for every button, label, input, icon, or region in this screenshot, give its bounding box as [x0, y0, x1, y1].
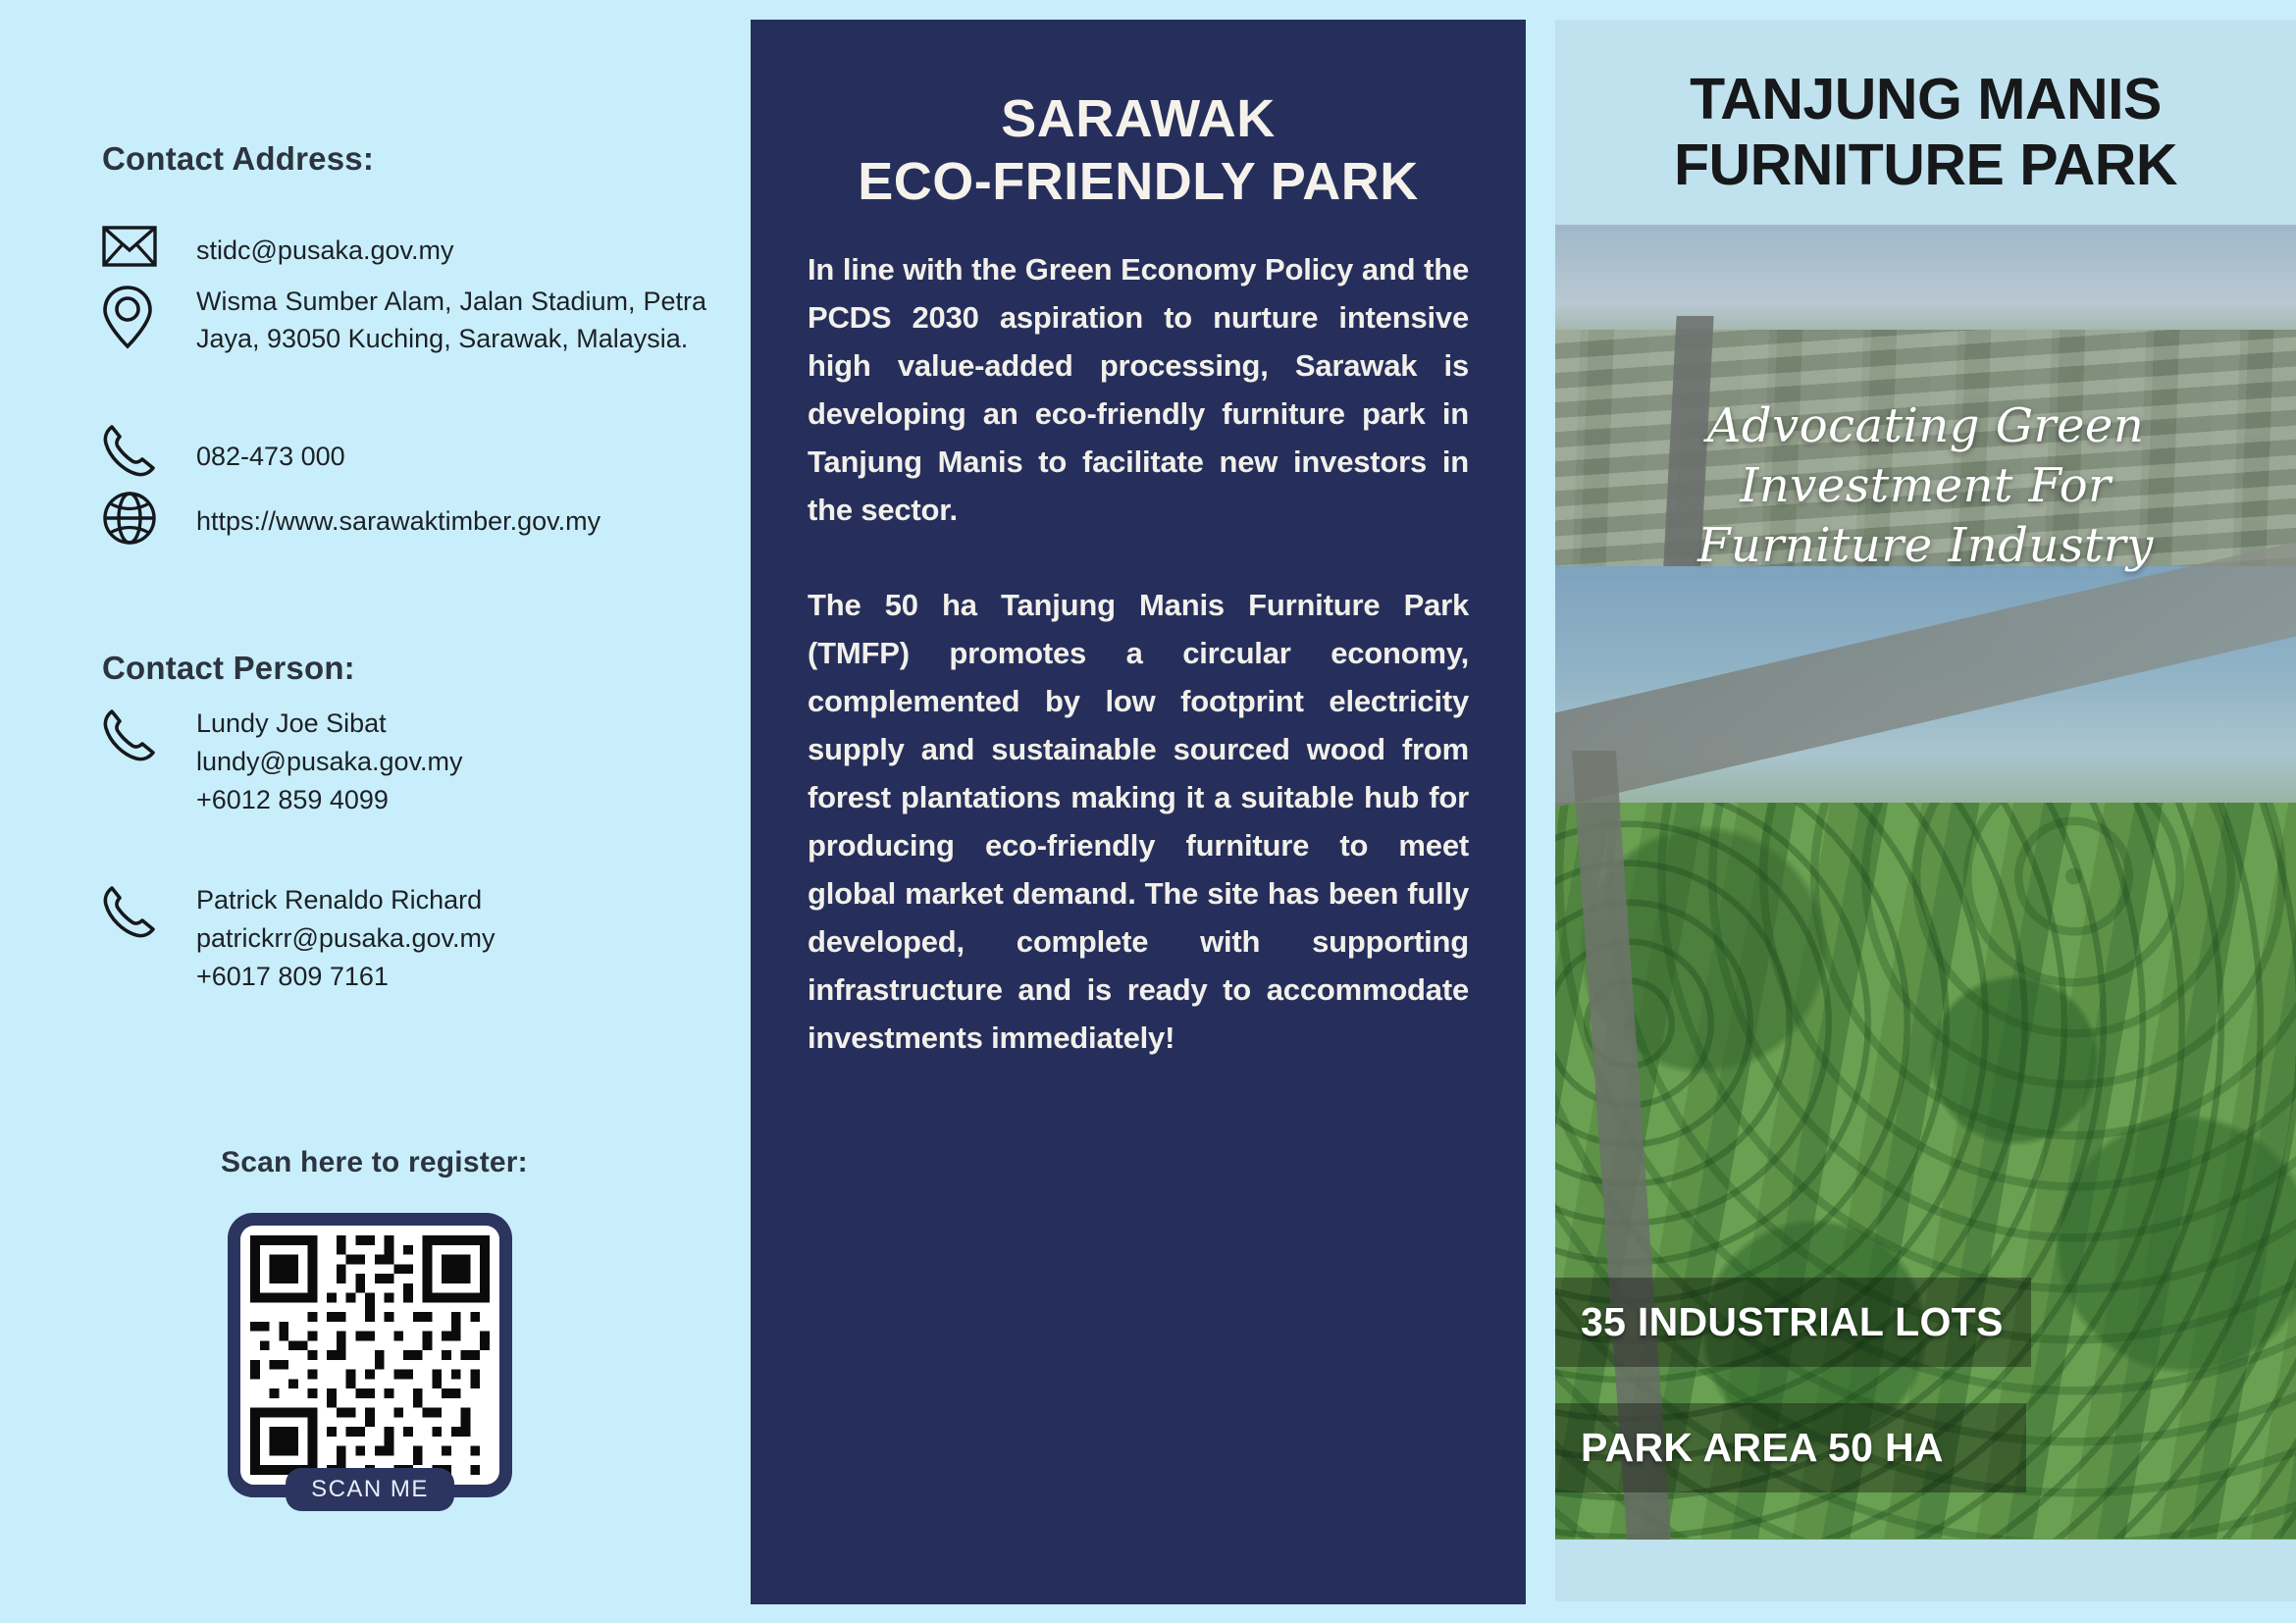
- tagline-line-2: Furniture Industry: [1587, 516, 2265, 576]
- phone-icon: [102, 881, 196, 940]
- contact-address-heading: Contact Address:: [102, 140, 374, 178]
- middle-panel-title: SARAWAK ECO-FRIENDLY PARK: [808, 88, 1469, 213]
- person-phone[interactable]: +6012 859 4099: [196, 781, 463, 819]
- description-paragraph-2: The 50 ha Tanjung Manis Furniture Park (…: [808, 582, 1469, 1063]
- scan-here-heading: Scan here to register:: [221, 1146, 528, 1179]
- badge-park-area: PARK AREA 50 HA: [1555, 1403, 2026, 1492]
- aerial-photo: Advocating Green Investment For Furnitur…: [1555, 225, 2296, 1540]
- person-email[interactable]: patrickrr@pusaka.gov.my: [196, 919, 496, 958]
- right-panel-cover: TANJUNG MANIS FURNITURE PARK Advocating …: [1555, 20, 2296, 1601]
- person-phone[interactable]: +6017 809 7161: [196, 958, 496, 996]
- person-name: Patrick Renaldo Richard: [196, 881, 496, 919]
- contact-person-2: Patrick Renaldo Richard patrickrr@pusaka…: [102, 881, 730, 996]
- middle-panel-description: SARAWAK ECO-FRIENDLY PARK In line with t…: [751, 20, 1526, 1604]
- contact-row-website: https://www.sarawaktimber.gov.my: [102, 489, 750, 546]
- brochure-page: Contact Address: stidc@pusaka.gov.my Wis…: [0, 0, 2296, 1623]
- description-paragraph-1: In line with the Green Economy Policy an…: [808, 246, 1469, 535]
- right-panel-title: TANJUNG MANIS FURNITURE PARK: [1573, 67, 2278, 199]
- contact-row-phone: 082-473 000: [102, 420, 691, 479]
- qr-code-block[interactable]: SCAN ME: [228, 1213, 512, 1497]
- qr-code-image: [240, 1226, 499, 1485]
- right-title-line-1: TANJUNG MANIS: [1690, 67, 2162, 131]
- right-title-line-2: FURNITURE PARK: [1573, 132, 2278, 198]
- left-panel-contact: Contact Address: stidc@pusaka.gov.my Wis…: [0, 0, 751, 1623]
- address-value: Wisma Sumber Alam, Jalan Stadium, Petra …: [196, 283, 706, 358]
- contact-row-address: Wisma Sumber Alam, Jalan Stadium, Petra …: [102, 283, 730, 358]
- website-value[interactable]: https://www.sarawaktimber.gov.my: [196, 489, 600, 540]
- contact-person-1: Lundy Joe Sibat lundy@pusaka.gov.my +601…: [102, 705, 730, 819]
- person-name: Lundy Joe Sibat: [196, 705, 463, 743]
- tagline-overlay: Advocating Green Investment For Furnitur…: [1555, 396, 2296, 577]
- email-value[interactable]: stidc@pusaka.gov.my: [196, 224, 454, 269]
- phone-icon: [102, 705, 196, 763]
- globe-icon: [102, 489, 196, 546]
- phone-value[interactable]: 082-473 000: [196, 420, 345, 475]
- scan-me-badge: SCAN ME: [286, 1468, 454, 1511]
- phone-icon: [102, 420, 196, 479]
- qr-code-svg: [250, 1235, 490, 1475]
- title-line-1: SARAWAK: [1001, 89, 1276, 148]
- tagline-line-1: Advocating Green Investment For: [1707, 398, 2144, 513]
- title-line-2: ECO-FRIENDLY PARK: [808, 151, 1469, 214]
- right-panel-header: TANJUNG MANIS FURNITURE PARK: [1555, 20, 2296, 225]
- contact-person-heading: Contact Person:: [102, 650, 355, 687]
- badge-industrial-lots: 35 INDUSTRIAL LOTS: [1555, 1278, 2031, 1367]
- envelope-icon: [102, 224, 196, 267]
- location-pin-icon: [102, 283, 196, 349]
- contact-row-email: stidc@pusaka.gov.my: [102, 224, 691, 269]
- person-email[interactable]: lundy@pusaka.gov.my: [196, 743, 463, 781]
